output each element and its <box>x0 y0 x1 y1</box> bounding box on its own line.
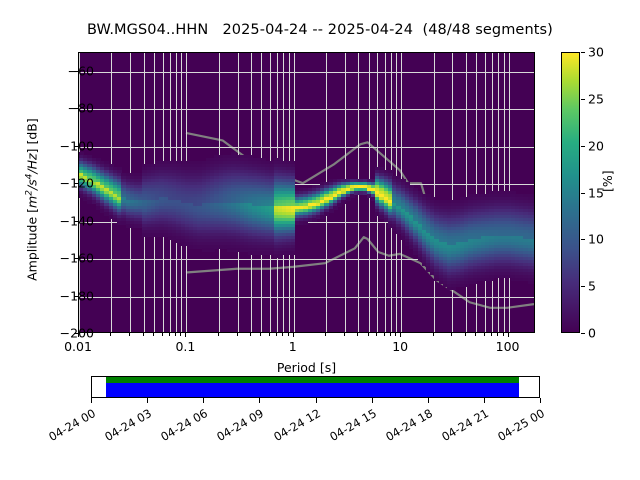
page-title: BW.MGS04..HHN 2025-04-24 -- 2025-04-24 (… <box>0 22 640 38</box>
time-tick-mark <box>428 398 429 403</box>
colorbar-tick-mark <box>581 193 585 194</box>
ppsd-figure: BW.MGS04..HHN 2025-04-24 -- 2025-04-24 (… <box>0 0 640 480</box>
coverage-band-data-coverage <box>106 383 519 397</box>
y-tick-label: −160 <box>34 251 94 266</box>
gridline-vertical <box>476 53 477 332</box>
y-tick-mark <box>74 146 78 147</box>
x-tick-mark-minor <box>175 333 176 336</box>
colorbar-tick-mark <box>581 52 585 53</box>
x-tick-mark-minor <box>110 333 111 336</box>
colorbar-tick-label: 30 <box>588 45 604 60</box>
colorbar-tick-mark <box>581 333 585 334</box>
y-tick-mark <box>74 71 78 72</box>
gridline-horizontal <box>79 147 534 148</box>
x-tick-mark-major <box>293 333 294 337</box>
x-tick-mark-minor <box>180 333 181 336</box>
y-tick-label: −120 <box>34 176 94 191</box>
ppsd-density-cell <box>291 251 296 255</box>
x-tick-mark-minor <box>269 333 270 336</box>
x-tick-mark-minor <box>250 333 251 336</box>
colorbar-tick-label: 5 <box>588 279 596 294</box>
x-tick-mark-minor <box>451 333 452 336</box>
gridline-vertical <box>434 53 435 332</box>
x-tick-mark-minor <box>344 333 345 336</box>
y-tick-mark <box>74 183 78 184</box>
x-axis-label: Period [s] <box>78 360 535 375</box>
colorbar-tick-mark <box>581 146 585 147</box>
time-tick-mark <box>484 398 485 403</box>
x-tick-mark-minor <box>390 333 391 336</box>
time-tick-label: 04-24 03 <box>93 406 154 449</box>
x-tick-mark-minor <box>357 333 358 336</box>
x-tick-label: 1 <box>263 339 323 354</box>
x-tick-mark-minor <box>376 333 377 336</box>
x-tick-mark-minor <box>276 333 277 336</box>
gridline-horizontal <box>79 297 534 298</box>
colorbar-tick-mark <box>581 99 585 100</box>
time-tick-label: 04-24 15 <box>318 406 379 449</box>
x-tick-mark-minor <box>395 333 396 336</box>
y-tick-mark <box>74 296 78 297</box>
ppsd-density-cell <box>532 281 535 285</box>
ppsd-plot-area <box>78 52 535 333</box>
x-tick-mark-minor <box>260 333 261 336</box>
time-tick-mark <box>147 398 148 403</box>
colorbar-tick-label: 10 <box>588 232 604 247</box>
time-tick-label: 04-24 06 <box>150 406 211 449</box>
x-tick-mark-minor <box>282 333 283 336</box>
colorbar-tick-label: 0 <box>588 326 596 341</box>
colorbar-tick-mark <box>581 286 585 287</box>
x-tick-mark-major <box>508 333 509 337</box>
gridline-vertical <box>485 53 486 332</box>
x-tick-mark-minor <box>497 333 498 336</box>
y-tick-label: −80 <box>34 101 94 116</box>
y-tick-label: −180 <box>34 288 94 303</box>
time-tick-mark <box>540 398 541 403</box>
y-tick-mark <box>74 108 78 109</box>
x-tick-mark-major <box>185 333 186 337</box>
x-tick-mark-minor <box>491 333 492 336</box>
time-tick-mark <box>203 398 204 403</box>
y-tick-label: −140 <box>34 213 94 228</box>
x-tick-mark-minor <box>325 333 326 336</box>
time-tick-label: 04-24 18 <box>374 406 435 449</box>
time-tick-label: 04-24 12 <box>262 406 323 449</box>
x-tick-mark-minor <box>475 333 476 336</box>
time-tick-mark <box>91 398 92 403</box>
colorbar-tick-label: 20 <box>588 138 604 153</box>
x-tick-mark-major <box>400 333 401 337</box>
x-tick-mark-minor <box>503 333 504 336</box>
time-tick-mark <box>372 398 373 403</box>
colorbar-tick-label: 25 <box>588 91 604 106</box>
x-tick-label: 10 <box>370 339 430 354</box>
colorbar <box>561 52 580 333</box>
x-tick-mark-minor <box>288 333 289 336</box>
x-tick-mark-minor <box>465 333 466 336</box>
time-tick-label: 04-24 00 <box>37 406 98 449</box>
x-tick-label: 0.01 <box>48 339 108 354</box>
colorbar-tick-label: 15 <box>588 185 604 200</box>
x-tick-mark-minor <box>237 333 238 336</box>
coverage-bar <box>91 376 540 398</box>
colorbar-tick-mark <box>581 239 585 240</box>
y-tick-label: −60 <box>34 63 94 78</box>
time-tick-label: 04-25 00 <box>486 406 547 449</box>
y-tick-mark <box>74 221 78 222</box>
x-tick-mark-minor <box>218 333 219 336</box>
x-tick-label: 100 <box>478 339 538 354</box>
gridline-horizontal <box>79 109 534 110</box>
x-tick-label: 0.1 <box>155 339 215 354</box>
time-tick-label: 04-24 21 <box>430 406 491 449</box>
x-tick-mark-minor <box>129 333 130 336</box>
time-tick-label: 04-24 09 <box>206 406 267 449</box>
gridline-horizontal <box>79 72 534 73</box>
gridline-vertical <box>466 53 467 332</box>
time-tick-mark <box>316 398 317 403</box>
y-tick-mark <box>74 258 78 259</box>
x-tick-mark-minor <box>143 333 144 336</box>
x-tick-mark-minor <box>384 333 385 336</box>
x-tick-mark-minor <box>162 333 163 336</box>
x-tick-mark-minor <box>169 333 170 336</box>
x-tick-mark-minor <box>153 333 154 336</box>
time-tick-mark <box>259 398 260 403</box>
x-tick-mark-minor <box>368 333 369 336</box>
x-tick-mark-minor <box>433 333 434 336</box>
x-tick-mark-minor <box>484 333 485 336</box>
y-tick-label: −100 <box>34 138 94 153</box>
x-tick-mark-major <box>78 333 79 337</box>
